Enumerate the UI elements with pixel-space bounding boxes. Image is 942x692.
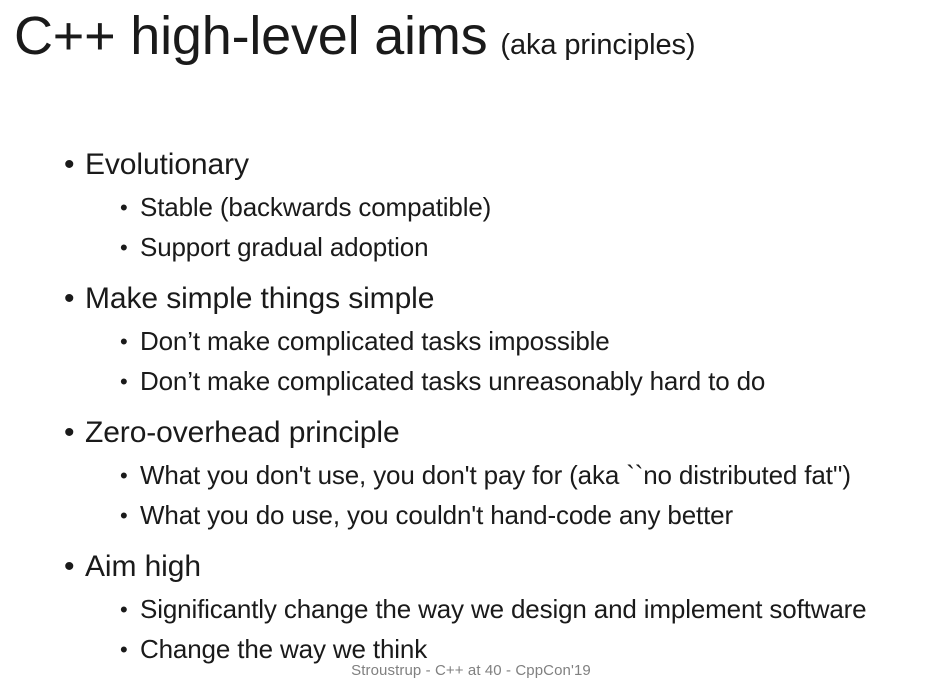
bullet-icon: • xyxy=(120,230,140,265)
slide-body-list: • Evolutionary • Stable (backwards compa… xyxy=(0,146,942,672)
top-level-bullet-label: Make simple things simple xyxy=(85,280,434,318)
bullet-icon: • xyxy=(64,280,85,318)
sub-bullet: • What you do use, you couldn't hand-cod… xyxy=(0,498,942,538)
sub-bullet-label: Don’t make complicated tasks impossible xyxy=(140,324,610,359)
top-level-bullet: • Evolutionary xyxy=(0,146,942,190)
bullet-icon: • xyxy=(120,458,140,493)
bullet-icon: • xyxy=(64,146,85,184)
top-level-bullet-label: Evolutionary xyxy=(85,146,249,184)
top-level-bullet: • Zero-overhead principle xyxy=(0,414,942,458)
title-main-text: C++ high-level aims xyxy=(14,4,487,68)
sub-bullet: • Support gradual adoption xyxy=(0,230,942,270)
bullet-icon: • xyxy=(64,414,85,452)
bullet-group: • Aim high • Significantly change the wa… xyxy=(0,548,942,672)
sub-bullet: • Stable (backwards compatible) xyxy=(0,190,942,230)
sub-bullet: • Significantly change the way we design… xyxy=(0,592,942,632)
sub-bullet-label: Significantly change the way we design a… xyxy=(140,592,866,627)
bullet-icon: • xyxy=(120,324,140,359)
sub-bullet-label: Don’t make complicated tasks unreasonabl… xyxy=(140,364,765,399)
top-level-bullet-label: Aim high xyxy=(85,548,201,586)
title-subtitle-text: (aka principles) xyxy=(500,28,695,62)
bullet-icon: • xyxy=(120,498,140,533)
slide-footer: Stroustrup - C++ at 40 - CppCon'19 xyxy=(0,661,942,681)
bullet-icon: • xyxy=(120,364,140,399)
group-spacer xyxy=(0,404,942,414)
top-level-bullet: • Make simple things simple xyxy=(0,280,942,324)
sub-bullet-label: Support gradual adoption xyxy=(140,230,428,265)
group-spacer xyxy=(0,270,942,280)
sub-bullet-label: What you don't use, you don't pay for (a… xyxy=(140,458,851,493)
sub-bullet: • Don’t make complicated tasks unreasona… xyxy=(0,364,942,404)
top-level-bullet-label: Zero-overhead principle xyxy=(85,414,400,452)
bullet-icon: • xyxy=(120,592,140,627)
bullet-group: • Zero-overhead principle • What you don… xyxy=(0,414,942,548)
bullet-icon: • xyxy=(64,548,85,586)
bullet-group: • Evolutionary • Stable (backwards compa… xyxy=(0,146,942,280)
sub-bullet-label: What you do use, you couldn't hand-code … xyxy=(140,498,733,533)
sub-bullet-label: Stable (backwards compatible) xyxy=(140,190,491,225)
sub-bullet: • Don’t make complicated tasks impossibl… xyxy=(0,324,942,364)
bullet-icon: • xyxy=(120,190,140,225)
top-level-bullet: • Aim high xyxy=(0,548,942,592)
group-spacer xyxy=(0,538,942,548)
sub-bullet: • What you don't use, you don't pay for … xyxy=(0,458,942,498)
bullet-group: • Make simple things simple • Don’t make… xyxy=(0,280,942,414)
page-title: C++ high-level aims (aka principles) xyxy=(14,4,924,68)
slide: C++ high-level aims (aka principles) • E… xyxy=(0,0,942,692)
